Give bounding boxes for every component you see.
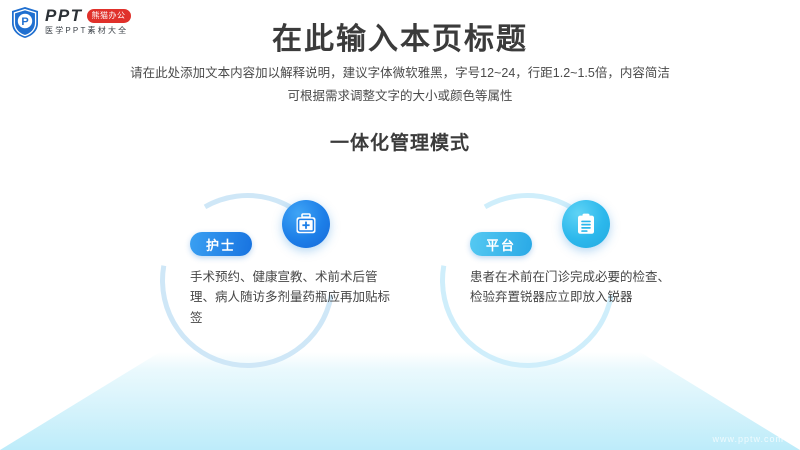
clipboard-glyph [573,211,599,237]
logo-badge: 熊猫办公 [87,9,131,23]
logo-tagline: 医学PPT素材大全 [45,27,131,35]
group-card-platform[interactable]: 平台 患者在术前在门诊完成必要的检查、检验弃置锐器应立即放入锐器 [430,185,720,380]
page-description: 请在此处添加文本内容加以解释说明，建议字体微软雅黑，字号12~24，行距1.2~… [0,62,800,108]
badge-platform[interactable]: 平台 [470,232,532,256]
svg-text:P: P [21,16,28,28]
group-body-nurse: 手术预约、健康宣教、术前术后管理、病人随访多剂量药瓶应再加贴标签 [190,267,390,328]
watermark-text: www.pptw.com [712,434,784,444]
page-description-line-1: 请在此处添加文本内容加以解释说明，建议字体微软雅黑，字号12~24，行距1.2~… [0,62,800,85]
group-container: 护士 手术预约、健康宣教、术前术后管理、病人随访多剂量药瓶应再加贴标签 平台 患… [0,185,800,380]
logo-brand-text: PPT [45,7,83,24]
medical-kit-glyph [293,211,319,237]
badge-nurse[interactable]: 护士 [190,232,252,256]
group-body-platform: 患者在术前在门诊完成必要的检查、检验弃置锐器应立即放入锐器 [470,267,670,308]
group-card-nurse[interactable]: 护士 手术预约、健康宣教、术前术后管理、病人随访多剂量药瓶应再加贴标签 [150,185,440,380]
section-title: 一体化管理模式 [0,128,800,155]
shield-icon: P [10,6,40,39]
brand-logo[interactable]: P PPT 熊猫办公 医学PPT素材大全 [10,6,131,39]
medical-kit-icon[interactable] [282,200,330,248]
slide-canvas: www.pptw.com P PPT 熊猫办公 医学PPT素材大全 在此输入本页… [0,0,800,450]
clipboard-icon[interactable] [562,200,610,248]
page-description-line-2: 可根据需求调整文字的大小或颜色等属性 [0,85,800,108]
